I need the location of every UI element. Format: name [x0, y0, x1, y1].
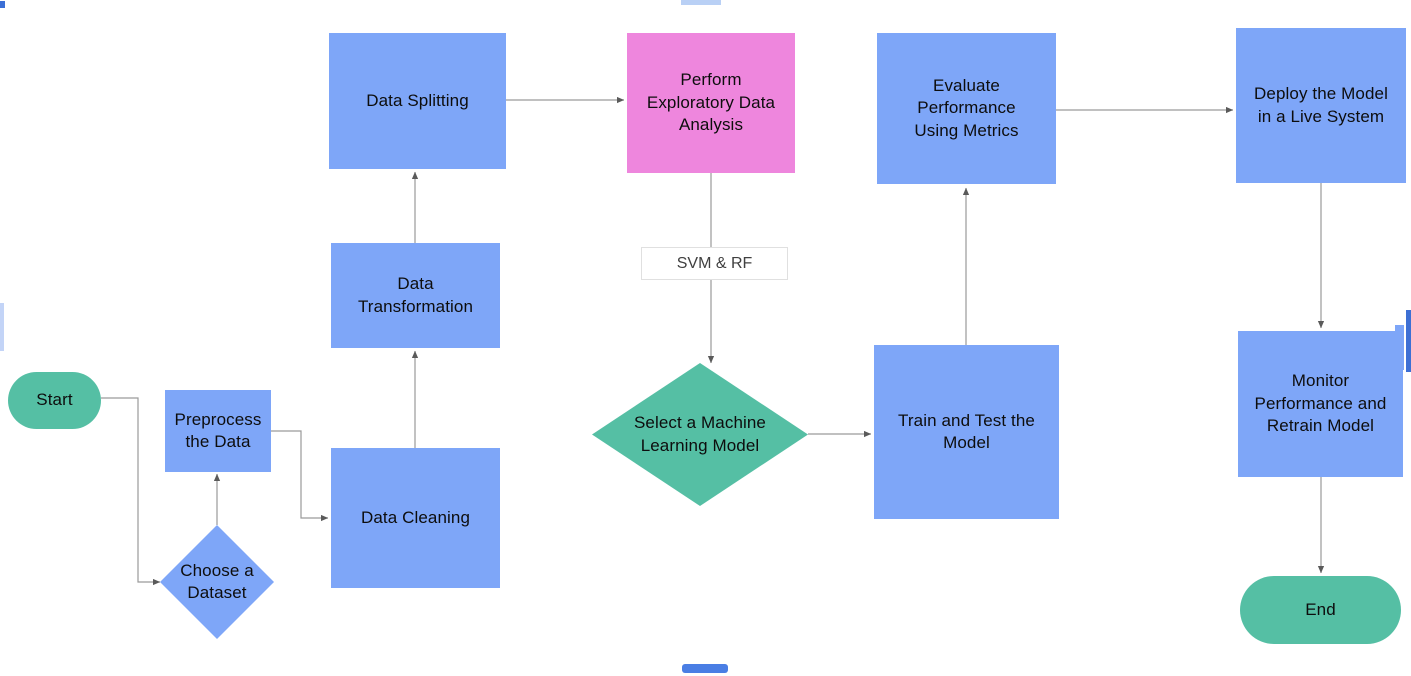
node-end[interactable]: End: [1240, 576, 1401, 644]
node-choose-a-dataset[interactable]: Choose a Dataset: [160, 525, 274, 639]
canvas-corner-marker: [0, 1, 5, 8]
node-monitor-performance-and-retrain-model[interactable]: Monitor Performance and Retrain Model: [1238, 331, 1403, 477]
node-monitor-performance-and-retrain-model-label: Monitor Performance and Retrain Model: [1255, 370, 1387, 437]
node-choose-a-dataset-label: Choose a Dataset: [160, 560, 274, 605]
node-data-transformation[interactable]: Data Transformation: [331, 243, 500, 348]
edge-preprocess-to-cleaning: [271, 431, 328, 518]
node-select-a-machine-learning-model[interactable]: Select a Machine Learning Model: [592, 363, 808, 506]
canvas-left-rail[interactable]: [0, 303, 4, 351]
node-select-a-machine-learning-model-label: Select a Machine Learning Model: [592, 412, 808, 457]
node-data-transformation-label: Data Transformation: [358, 273, 473, 318]
canvas-bottom-scrollbar[interactable]: [682, 664, 728, 673]
node-start[interactable]: Start: [8, 372, 101, 429]
node-evaluate-performance-using-metrics-label: Evaluate Performance Using Metrics: [914, 75, 1018, 142]
node-train-and-test-the-model[interactable]: Train and Test the Model: [874, 345, 1059, 519]
node-deploy-the-model-in-a-live-system-label: Deploy the Model in a Live System: [1254, 83, 1388, 128]
canvas-right-scrollbar[interactable]: [1406, 310, 1411, 372]
node-perform-exploratory-data-analysis[interactable]: Perform Exploratory Data Analysis: [627, 33, 795, 173]
node-data-splitting[interactable]: Data Splitting: [329, 33, 506, 169]
node-preprocess-the-data-label: Preprocess the Data: [175, 409, 262, 454]
node-deploy-the-model-in-a-live-system[interactable]: Deploy the Model in a Live System: [1236, 28, 1406, 183]
node-perform-exploratory-data-analysis-label: Perform Exploratory Data Analysis: [647, 69, 775, 136]
canvas-top-handle[interactable]: [681, 0, 721, 5]
node-evaluate-performance-using-metrics[interactable]: Evaluate Performance Using Metrics: [877, 33, 1056, 184]
node-data-splitting-label: Data Splitting: [366, 90, 469, 112]
node-train-and-test-the-model-label: Train and Test the Model: [898, 410, 1035, 455]
node-end-label: End: [1305, 599, 1336, 621]
node-preprocess-the-data[interactable]: Preprocess the Data: [165, 390, 271, 472]
flowchart-canvas[interactable]: Start Preprocess the Data Choose a Datas…: [0, 0, 1411, 676]
edge-label-svm-rf-text: SVM & RF: [677, 255, 753, 273]
node-data-cleaning-label: Data Cleaning: [361, 507, 470, 529]
node-data-cleaning[interactable]: Data Cleaning: [331, 448, 500, 588]
edge-start-to-choose: [101, 398, 160, 582]
edge-label-svm-rf[interactable]: SVM & RF: [641, 247, 788, 280]
node-start-label: Start: [36, 389, 72, 411]
